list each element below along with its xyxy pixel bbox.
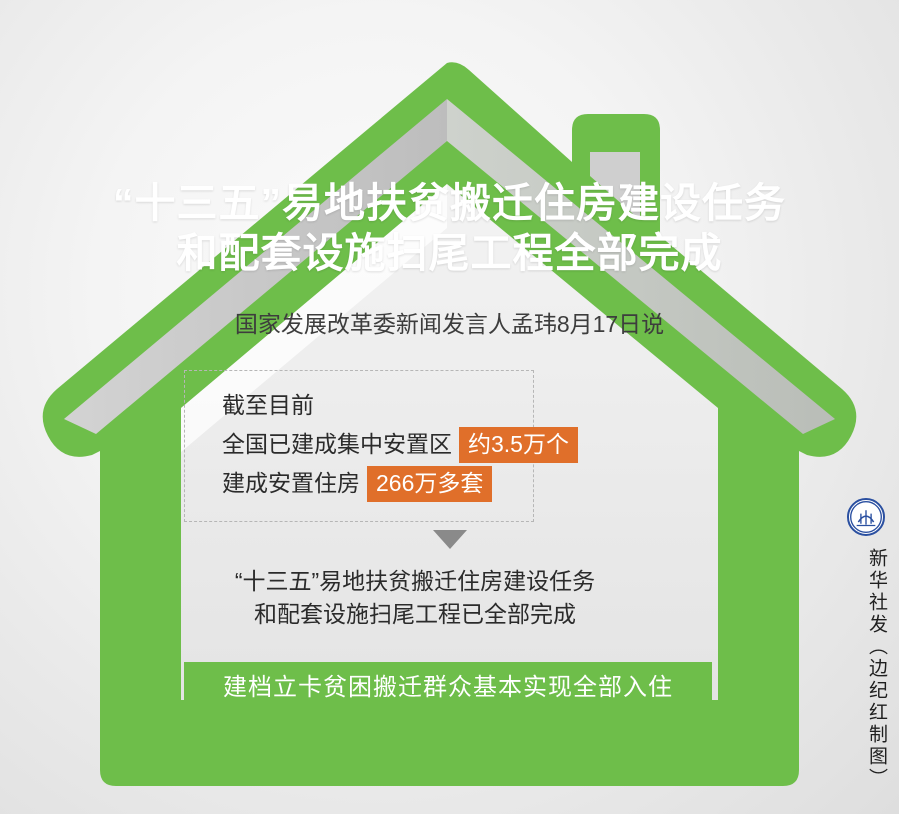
credit-line: 新华社发（边纪红制图） [843, 544, 887, 794]
headline-line-2: 和配套设施扫尾工程全部完成 [0, 228, 899, 278]
xinhua-logo-mark [849, 500, 883, 534]
page-title: “十三五”易地扶贫搬迁住房建设任务 和配套设施扫尾工程全部完成 [0, 178, 899, 278]
stats-row: 全国已建成集中安置区 约3.5万个 [222, 425, 782, 464]
stats-panel: 截至目前 全国已建成集中安置区 约3.5万个 建成安置住房 266万多套 [222, 386, 782, 503]
infographic-poster: “十三五”易地扶贫搬迁住房建设任务 和配套设施扫尾工程全部完成 国家发展改革委新… [0, 0, 899, 814]
conclusion-text: “十三五”易地扶贫搬迁住房建设任务 和配套设施扫尾工程已全部完成 [125, 565, 705, 631]
headline-line-1: “十三五”易地扶贫搬迁住房建设任务 [113, 180, 786, 226]
source-statement: 国家发展改革委新闻发言人孟玮8月17日说 [0, 308, 899, 340]
down-arrow-icon [433, 530, 467, 549]
stats-intro-label: 截至目前 [222, 386, 314, 425]
stats-row-value: 266万多套 [367, 466, 492, 502]
stats-row-label: 建成安置住房 [222, 464, 360, 503]
highlight-banner: 建档立卡贫困搬迁群众基本实现全部入住 [184, 662, 712, 706]
stats-row: 建成安置住房 266万多套 [222, 464, 782, 503]
xinhua-logo-icon [847, 498, 885, 536]
stats-row-value: 约3.5万个 [459, 427, 578, 463]
stats-row-label: 全国已建成集中安置区 [222, 425, 452, 464]
conclusion-line-1: “十三五”易地扶贫搬迁住房建设任务 [125, 565, 705, 598]
highlight-banner-label: 建档立卡贫困搬迁群众基本实现全部入住 [223, 667, 673, 702]
stats-intro-row: 截至目前 [222, 386, 782, 425]
conclusion-line-2: 和配套设施扫尾工程已全部完成 [125, 598, 705, 631]
